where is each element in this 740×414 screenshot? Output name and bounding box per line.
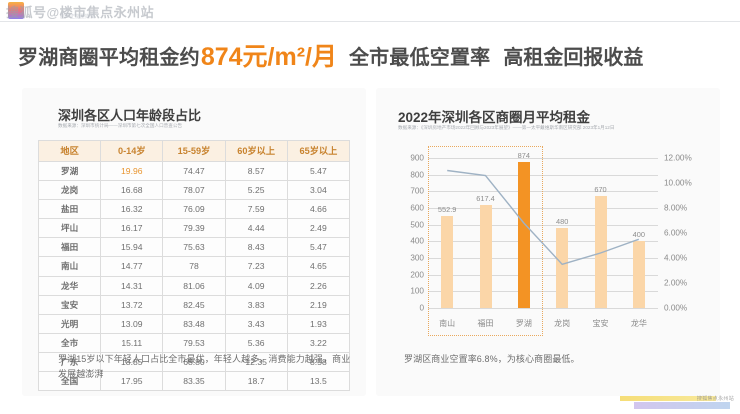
chart-y-tick-right: 0.00%	[664, 304, 687, 313]
cell-value: 15.94	[101, 238, 163, 257]
cell-value: 5.36	[225, 333, 287, 352]
cell-value: 81.06	[163, 276, 225, 295]
left-panel-title: 深圳各区人口年龄段占比	[58, 105, 201, 124]
cell-region: 罗湖	[39, 162, 101, 181]
table-row: 光明13.0983.483.431.93	[39, 314, 350, 333]
table-row: 宝安13.7282.453.832.19	[39, 295, 350, 314]
chart-gridline	[428, 308, 658, 309]
chart-y-tick-right: 4.00%	[664, 254, 687, 263]
cell-value: 79.39	[163, 219, 225, 238]
right-panel-rent-chart: 2022年深圳各区商圈月平均租金 数据来源：《深圳房地产市场2022年回顾与20…	[376, 88, 720, 396]
chart-x-label: 福田	[478, 318, 494, 329]
cell-value: 78	[163, 257, 225, 276]
cell-value: 3.04	[287, 181, 349, 200]
chart-y-tick-left: 600	[410, 204, 424, 213]
cell-value: 82.45	[163, 295, 225, 314]
cell-value: 13.72	[101, 295, 163, 314]
cell-value: 4.09	[225, 276, 287, 295]
cell-value: 5.25	[225, 181, 287, 200]
cell-value: 8.43	[225, 238, 287, 257]
chart-y-tick-right: 6.00%	[664, 229, 687, 238]
cell-value: 78.07	[163, 181, 225, 200]
chart-y-tick-left: 900	[410, 154, 424, 163]
table-row: 盐田16.3276.097.594.66	[39, 200, 350, 219]
table-row: 南山14.77787.234.65	[39, 257, 350, 276]
chart-plot-area: 01002003004005006007008009000.00%2.00%4.…	[428, 158, 658, 308]
cell-region: 龙岗	[39, 181, 101, 200]
cell-value: 13.09	[101, 314, 163, 333]
cell-value: 4.66	[287, 200, 349, 219]
cell-region: 宝安	[39, 295, 101, 314]
chart-y-tick-left: 200	[410, 270, 424, 279]
table-row: 坪山16.1779.394.442.49	[39, 219, 350, 238]
chart-line-series	[428, 158, 658, 308]
chart-x-label: 宝安	[593, 318, 609, 329]
cell-value: 5.47	[287, 238, 349, 257]
cell-region: 南山	[39, 257, 101, 276]
col-header-60plus: 60岁以上	[225, 141, 287, 162]
cell-region: 全市	[39, 333, 101, 352]
rent-chart: 01002003004005006007008009000.00%2.00%4.…	[388, 148, 708, 348]
cell-region: 坪山	[39, 219, 101, 238]
chart-y-tick-left: 800	[410, 170, 424, 179]
table-row: 龙岗16.6878.075.253.04	[39, 181, 350, 200]
cell-value: 14.31	[101, 276, 163, 295]
cell-value: 3.22	[287, 333, 349, 352]
chart-y-tick-left: 500	[410, 220, 424, 229]
chart-y-tick-left: 300	[410, 254, 424, 263]
headline-part3: 高租金回报收益	[503, 41, 643, 70]
col-header-15-59: 15-59岁	[163, 141, 225, 162]
cell-value: 83.48	[163, 314, 225, 333]
left-panel-population-table: 深圳各区人口年龄段占比 数据来源：深圳市统计局——深圳市第七次全国人口普查公告 …	[22, 88, 366, 396]
screenshot-root: 搜狐号@楼市焦点永州站 房产正能量媒体 罗湖商圈平均租金约874元/m²/月全市…	[0, 0, 740, 414]
cell-value: 2.26	[287, 276, 349, 295]
cell-value: 1.93	[287, 314, 349, 333]
cell-value: 19.96	[101, 162, 163, 181]
table-row: 福田15.9475.638.435.47	[39, 238, 350, 257]
right-panel-note: 罗湖区商业空置率6.8%，为核心商圈最低。	[404, 352, 716, 367]
table-row: 罗湖19.9674.478.575.47	[39, 162, 350, 181]
chart-x-label: 龙华	[631, 318, 647, 329]
cell-region: 龙华	[39, 276, 101, 295]
cell-region: 光明	[39, 314, 101, 333]
cell-value: 16.68	[101, 181, 163, 200]
left-panel-note: 罗湖15岁以下年轻人口占比全市最优，年轻人越多，消费能力越强，商业发展越澎湃	[58, 352, 358, 382]
header-divider	[0, 21, 740, 22]
col-header-65plus: 65岁以上	[287, 141, 349, 162]
watermark-top-subtext: 房产正能量媒体	[60, 13, 95, 20]
cell-region: 盐田	[39, 200, 101, 219]
chart-x-axis-labels: 南山福田罗湖龙岗宝安龙华	[428, 318, 658, 336]
cell-value: 79.53	[163, 333, 225, 352]
cell-value: 75.63	[163, 238, 225, 257]
top-watermark-bar: 搜狐号@楼市焦点永州站 房产正能量媒体	[0, 0, 740, 22]
cell-value: 3.43	[225, 314, 287, 333]
cell-value: 74.47	[163, 162, 225, 181]
cell-value: 16.17	[101, 219, 163, 238]
page-title: 罗湖商圈平均租金约874元/m²/月全市最低空置率高租金回报收益	[18, 38, 724, 72]
chart-y-tick-right: 8.00%	[664, 204, 687, 213]
right-panel-source: 数据来源：《深圳房地产市场2022年回顾与2023年展望》——第一太平戴维斯华南…	[398, 125, 698, 132]
chart-y-tick-right: 12.00%	[664, 154, 692, 163]
cell-value: 2.49	[287, 219, 349, 238]
chart-y-tick-right: 10.00%	[664, 179, 692, 188]
cell-value: 4.44	[225, 219, 287, 238]
watermark-bar-purple	[634, 402, 730, 409]
cell-value: 76.09	[163, 200, 225, 219]
chart-x-label: 南山	[439, 318, 455, 329]
table-row: 龙华14.3181.064.092.26	[39, 276, 350, 295]
chart-x-label: 龙岗	[554, 318, 570, 329]
cell-value: 14.77	[101, 257, 163, 276]
headline-part1: 罗湖商圈平均租金约	[18, 41, 200, 70]
chart-x-label: 罗湖	[516, 318, 532, 329]
cell-value: 7.59	[225, 200, 287, 219]
cell-value: 7.23	[225, 257, 287, 276]
cell-value: 15.11	[101, 333, 163, 352]
cell-value: 4.65	[287, 257, 349, 276]
cell-value: 3.83	[225, 295, 287, 314]
cell-value: 5.47	[287, 162, 349, 181]
headline-highlight: 874元/m²/月	[201, 37, 337, 73]
right-panel-title: 2022年深圳各区商圈月平均租金	[398, 106, 590, 126]
chart-y-tick-left: 700	[410, 187, 424, 196]
cell-region: 福田	[39, 238, 101, 257]
cell-value: 2.19	[287, 295, 349, 314]
watermark-bottom-text: 搜狐焦点永州站	[697, 395, 734, 402]
chart-y-tick-left: 0	[419, 304, 424, 313]
col-header-region: 地区	[39, 141, 101, 162]
headline-part2: 全市最低空置率	[349, 41, 490, 70]
bottom-watermark: 搜狐焦点永州站	[620, 395, 736, 410]
chart-y-tick-left: 100	[410, 287, 424, 296]
table-header-row: 地区 0-14岁 15-59岁 60岁以上 65岁以上	[39, 141, 350, 162]
chart-y-tick-right: 2.00%	[664, 279, 687, 288]
cell-value: 8.57	[225, 162, 287, 181]
chart-y-tick-left: 400	[410, 237, 424, 246]
cell-value: 16.32	[101, 200, 163, 219]
left-panel-source: 数据来源：深圳市统计局——深圳市第七次全国人口普查公告	[58, 123, 182, 130]
table-row: 全市15.1179.535.363.22	[39, 333, 350, 352]
col-header-0-14: 0-14岁	[101, 141, 163, 162]
